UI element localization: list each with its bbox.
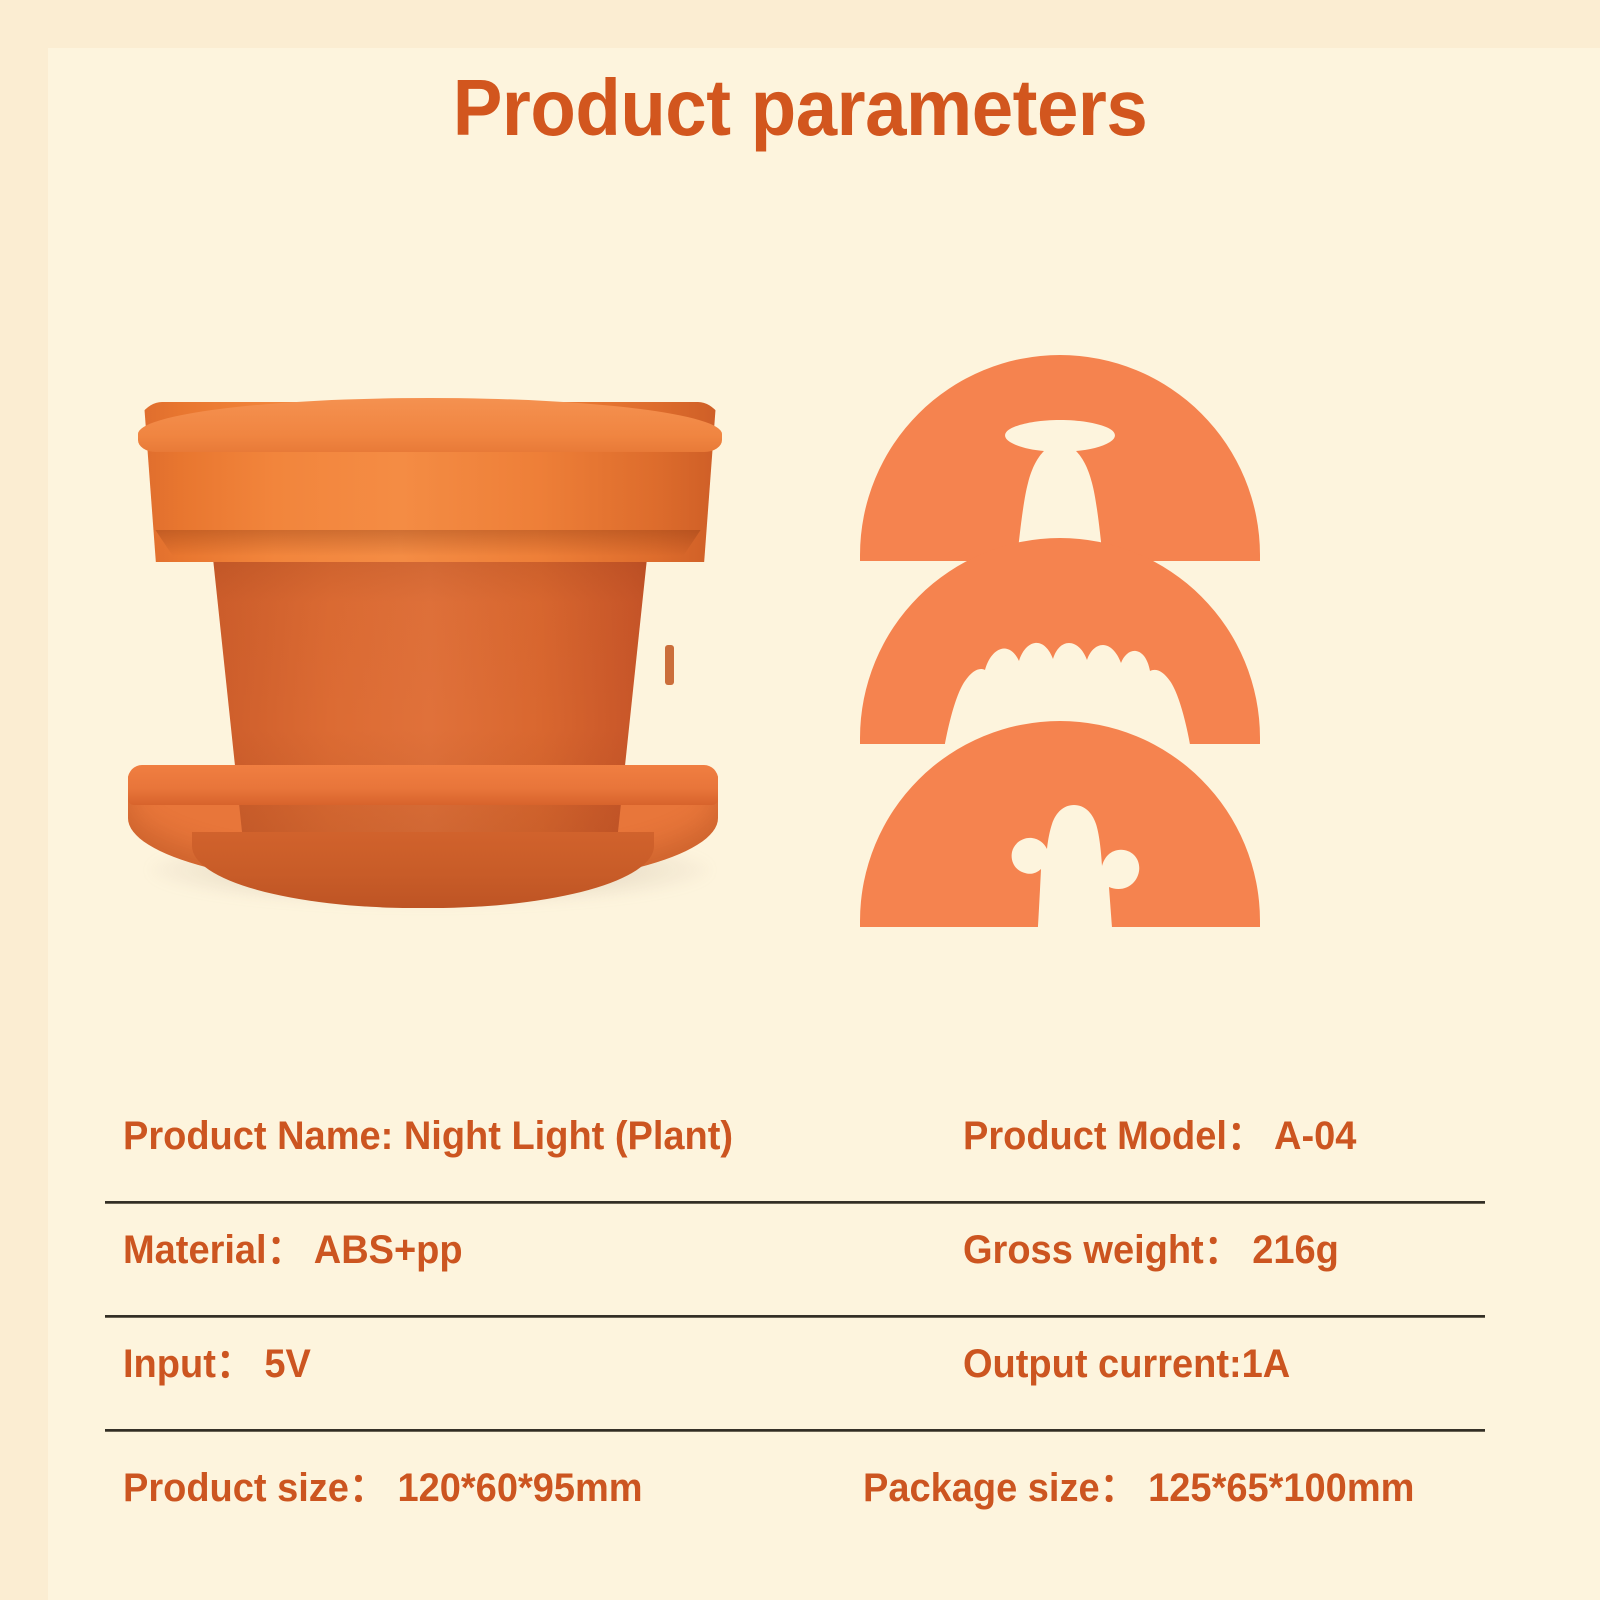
pot-saucer-lip xyxy=(128,765,718,805)
table-row: Product Name: Night Light (Plant) Produc… xyxy=(105,1090,1485,1204)
pot-side-button xyxy=(665,645,674,685)
spec-product-name: Product Name: Night Light (Plant) xyxy=(123,1108,733,1164)
succulent-silhouette xyxy=(860,538,1260,744)
product-parameters-page: Product parameters xyxy=(0,0,1600,1600)
pot-rim-shadow xyxy=(138,530,718,556)
page-title: Product parameters xyxy=(56,62,1544,154)
spec-product-model: Product Model： A-04 xyxy=(963,1108,1356,1164)
spec-package-size: Package size： 125*65*100mm xyxy=(863,1460,1414,1516)
table-row: Input： 5V Output current:1A xyxy=(105,1318,1485,1432)
spec-input: Input： 5V xyxy=(123,1336,311,1392)
cactus-silhouette xyxy=(860,721,1260,927)
silhouette-group xyxy=(860,355,1290,935)
spec-material: Material： ABS+pp xyxy=(123,1222,463,1278)
table-row: Material： ABS+pp Gross weight： 216g xyxy=(105,1204,1485,1318)
spec-product-size: Product size： 120*60*95mm xyxy=(123,1460,643,1516)
table-row: Product size： 120*60*95mm Package size： … xyxy=(105,1432,1485,1542)
spec-table: Product Name: Night Light (Plant) Produc… xyxy=(105,1090,1485,1542)
spec-gross-weight: Gross weight： 216g xyxy=(963,1222,1339,1278)
pot-body-shading xyxy=(180,530,680,860)
product-photo xyxy=(120,380,760,940)
mushroom-silhouette xyxy=(860,355,1260,561)
spec-output-current: Output current:1A xyxy=(963,1336,1290,1392)
